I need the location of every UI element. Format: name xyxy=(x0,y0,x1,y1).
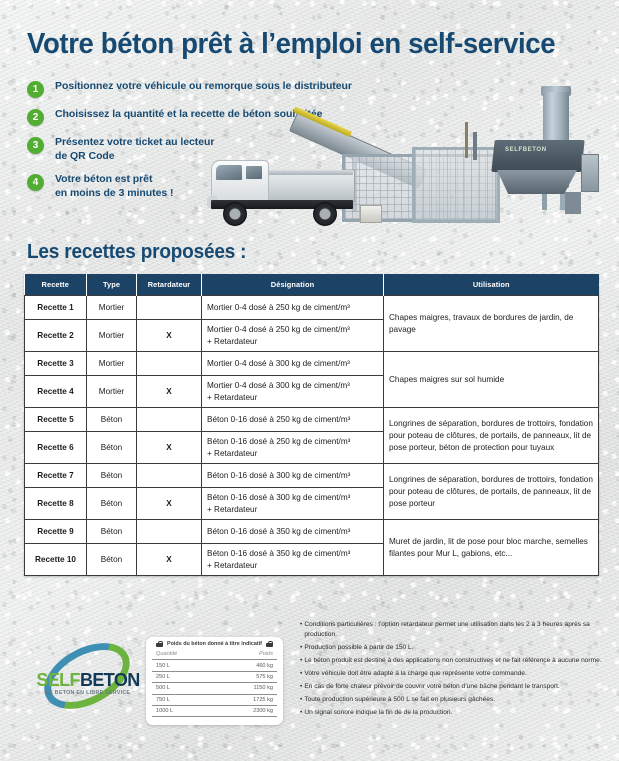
note-text: En cas de forte chaleur prévoir de couvr… xyxy=(304,682,602,692)
weights-card-title: Poids du béton donné à titre indicatif xyxy=(167,641,262,647)
cell-type: Béton xyxy=(87,488,137,520)
page-title: Votre béton prêt à l’emploi en self-serv… xyxy=(27,28,555,61)
table-row: Recette 9 Béton Béton 0-16 dosé à 350 kg… xyxy=(25,520,599,544)
cell-designation: Mortier 0-4 dosé à 300 kg de ciment/m³ +… xyxy=(202,376,384,408)
cell-type: Mortier xyxy=(87,352,137,376)
cell-retardateur xyxy=(137,408,202,432)
cell-poids: 1150 kg xyxy=(216,683,277,694)
pole-icon xyxy=(465,122,468,158)
cell-retardateur: X xyxy=(137,488,202,520)
cell-designation: Béton 0-16 dosé à 350 kg de ciment/m³ + … xyxy=(202,544,384,576)
truck-bed-rail-icon xyxy=(265,170,353,175)
cell-poids: 2300 kg xyxy=(216,705,277,716)
cell-quantite: 150 L xyxy=(152,660,216,671)
table-row: 150 L 460 kg xyxy=(152,660,277,671)
cell-retardateur xyxy=(137,464,202,488)
list-item: • Le béton produit est destiné à des app… xyxy=(300,656,602,666)
list-item: • Un signal sonore indique la fin de de … xyxy=(300,708,602,718)
cell-designation: Mortier 0-4 dosé à 250 kg de ciment/m³ xyxy=(202,296,384,320)
note-text: Conditions particulières : l’option reta… xyxy=(304,620,602,639)
table-row: 500 L 1150 kg xyxy=(152,683,277,694)
step-number-badge: 3 xyxy=(27,137,44,154)
cell-utilisation: Muret de jardin, lit de pose pour bloc m… xyxy=(384,520,599,576)
cell-retardateur: X xyxy=(137,320,202,352)
truck-window-icon xyxy=(246,166,262,179)
step-number-badge: 1 xyxy=(27,81,44,98)
cell-type: Mortier xyxy=(87,376,137,408)
mixer-body-icon xyxy=(497,170,577,194)
list-item: • Votre véhicule doit être adapté à la c… xyxy=(300,669,602,679)
truck-icon xyxy=(205,156,375,236)
fence-frame-icon xyxy=(412,147,500,223)
control-panel-icon xyxy=(581,154,599,192)
table-row: Recette 3 Mortier Mortier 0-4 dosé à 300… xyxy=(25,352,599,376)
cell-recette: Recette 5 xyxy=(25,408,87,432)
list-item: • En cas de forte chaleur prévoir de cou… xyxy=(300,682,602,692)
concrete-plant-photo: SELFBETON xyxy=(205,92,617,237)
cell-designation: Béton 0-16 dosé à 250 kg de ciment/m³ xyxy=(202,408,384,432)
cell-type: Mortier xyxy=(87,320,137,352)
step-label: Présentez votre ticket au lecteur de QR … xyxy=(55,136,214,163)
list-item: • Production possible à partir de 150 L. xyxy=(300,643,602,653)
truck-wheel-icon xyxy=(313,202,337,226)
mixer-leg-icon xyxy=(565,192,581,214)
table-header-row: Quantité Poids xyxy=(152,649,277,660)
bullet-icon: • xyxy=(300,656,302,666)
column-header-utilisation: Utilisation xyxy=(384,274,599,296)
note-text: Production possible à partir de 150 L. xyxy=(304,643,602,653)
cell-type: Béton xyxy=(87,544,137,576)
cell-quantite: 1000 L xyxy=(152,705,216,716)
recipes-table: Recette Type Retardateur Désignation Uti… xyxy=(24,274,599,576)
cell-utilisation: Longrines de séparation, bordures de tro… xyxy=(384,464,599,520)
bullet-icon: • xyxy=(300,708,302,718)
conditions-notes: • Conditions particulières : l’option re… xyxy=(300,620,602,720)
cell-recette: Recette 6 xyxy=(25,432,87,464)
note-text: Le béton produit est destiné à des appli… xyxy=(304,656,602,666)
note-text: Toute production supérieure à 500 L se f… xyxy=(304,695,602,705)
cell-utilisation: Longrines de séparation, bordures de tro… xyxy=(384,408,599,464)
column-header-retardateur: Retardateur xyxy=(137,274,202,296)
table-header-row: Recette Type Retardateur Désignation Uti… xyxy=(25,274,599,296)
cell-poids: 460 kg xyxy=(216,660,277,671)
cell-recette: Recette 4 xyxy=(25,376,87,408)
cell-designation: Mortier 0-4 dosé à 250 kg de ciment/m³ +… xyxy=(202,320,384,352)
cell-recette: Recette 10 xyxy=(25,544,87,576)
cell-utilisation: Chapes maigres sur sol humide xyxy=(384,352,599,408)
cell-designation: Béton 0-16 dosé à 300 kg de ciment/m³ xyxy=(202,464,384,488)
table-row: Recette 5 Béton Béton 0-16 dosé à 250 kg… xyxy=(25,408,599,432)
logo-word-self: SELF xyxy=(36,670,80,690)
weight-icon xyxy=(156,641,163,647)
cell-designation: Béton 0-16 dosé à 300 kg de ciment/m³ + … xyxy=(202,488,384,520)
cell-quantite: 500 L xyxy=(152,683,216,694)
cell-retardateur: X xyxy=(137,432,202,464)
cell-recette: Recette 3 xyxy=(25,352,87,376)
list-item: • Toute production supérieure à 500 L se… xyxy=(300,695,602,705)
step-label: Votre béton est prêt en moins de 3 minut… xyxy=(55,173,173,200)
pole-icon xyxy=(473,132,477,160)
recipes-table-wrapper: Recette Type Retardateur Désignation Uti… xyxy=(24,274,598,576)
column-header-type: Type xyxy=(87,274,137,296)
logo-wordmark: SELFBETON xyxy=(27,671,149,689)
column-header-designation: Désignation xyxy=(202,274,384,296)
cell-quantite: 750 L xyxy=(152,694,216,705)
cell-designation: Béton 0-16 dosé à 250 kg de ciment/m³ + … xyxy=(202,432,384,464)
mixer-hopper-icon xyxy=(491,140,584,172)
table-row: 750 L 1725 kg xyxy=(152,694,277,705)
truck-wheel-icon xyxy=(223,202,247,226)
weights-card-header: Poids du béton donné à titre indicatif xyxy=(152,641,277,647)
cell-recette: Recette 1 xyxy=(25,296,87,320)
cell-retardateur: X xyxy=(137,376,202,408)
step-number-badge: 4 xyxy=(27,174,44,191)
step-number-badge: 2 xyxy=(27,109,44,126)
cell-type: Mortier xyxy=(87,296,137,320)
truck-windshield-icon xyxy=(216,165,242,180)
table-row: 250 L 575 kg xyxy=(152,671,277,682)
cell-designation: Mortier 0-4 dosé à 300 kg de ciment/m³ xyxy=(202,352,384,376)
cell-quantite: 250 L xyxy=(152,671,216,682)
note-text: Votre véhicule doit être adapté à la cha… xyxy=(304,669,602,679)
cell-poids: 1725 kg xyxy=(216,694,277,705)
cell-recette: Recette 2 xyxy=(25,320,87,352)
cell-type: Béton xyxy=(87,432,137,464)
cell-retardateur xyxy=(137,352,202,376)
logo-word-beton: BETON xyxy=(80,670,140,690)
column-header-poids: Poids xyxy=(216,649,277,660)
cell-retardateur xyxy=(137,520,202,544)
cell-type: Béton xyxy=(87,408,137,432)
cell-type: Béton xyxy=(87,520,137,544)
bullet-icon: • xyxy=(300,682,302,692)
bullet-icon: • xyxy=(300,695,302,705)
bullet-icon: • xyxy=(300,669,302,679)
table-row: Recette 1 Mortier Mortier 0-4 dosé à 250… xyxy=(25,296,599,320)
table-row: Recette 7 Béton Béton 0-16 dosé à 300 kg… xyxy=(25,464,599,488)
cell-poids: 575 kg xyxy=(216,671,277,682)
bullet-icon: • xyxy=(300,643,302,653)
section-title: Les recettes proposées : xyxy=(27,241,246,264)
cell-retardateur: X xyxy=(137,544,202,576)
cell-retardateur xyxy=(137,296,202,320)
weights-table: Quantité Poids 150 L 460 kg 250 L 575 kg… xyxy=(152,649,277,717)
cell-recette: Recette 8 xyxy=(25,488,87,520)
cell-recette: Recette 7 xyxy=(25,464,87,488)
weights-card: Poids du béton donné à titre indicatif Q… xyxy=(146,637,283,725)
cell-utilisation: Chapes maigres, travaux de bordures de j… xyxy=(384,296,599,352)
cell-designation: Béton 0-16 dosé à 350 kg de ciment/m³ xyxy=(202,520,384,544)
note-text: Un signal sonore indique la fin de de la… xyxy=(304,708,602,718)
table-row: 1000 L 2300 kg xyxy=(152,705,277,716)
selfbeton-logo: SELFBETON LE BETON EN LIBRE SERVICE xyxy=(27,648,147,710)
column-header-recette: Recette xyxy=(25,274,87,296)
cell-type: Béton xyxy=(87,464,137,488)
bullet-icon: • xyxy=(300,620,302,639)
logo-tagline: LE BETON EN LIBRE SERVICE xyxy=(27,690,149,696)
machine-brand-label: SELFBETON xyxy=(505,147,547,153)
weight-icon xyxy=(266,641,273,647)
column-header-quantite: Quantité xyxy=(152,649,216,660)
cell-recette: Recette 9 xyxy=(25,520,87,544)
list-item: • Conditions particulières : l’option re… xyxy=(300,620,602,639)
